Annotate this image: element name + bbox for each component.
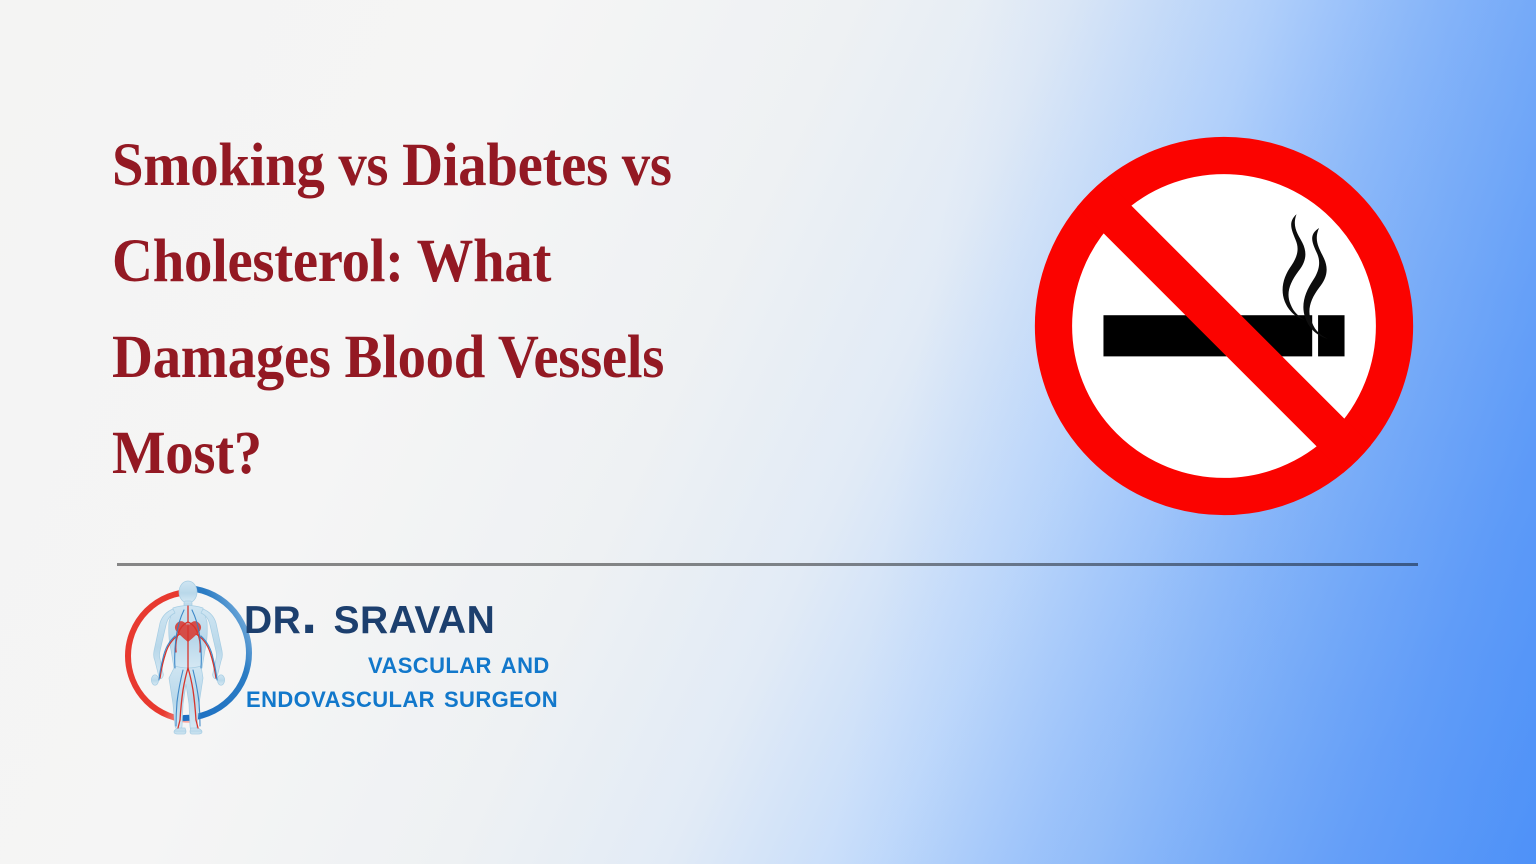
page-title: Smoking vs Diabetes vs Cholesterol: What… [112,118,744,502]
title-block: Smoking vs Diabetes vs Cholesterol: What… [112,118,792,502]
logo-wordmark: Dr. Sravan Vascular and Endovascular sur… [244,584,744,714]
logo-subtitle-line-2: Endovascular surgeon [244,680,744,714]
human-vascular-body-icon [118,576,258,736]
brand-logo[interactable]: Dr. Sravan Vascular and Endovascular sur… [118,576,738,736]
horizontal-divider [117,563,1418,566]
logo-subtitle-line-1: Vascular and [244,646,744,680]
logo-name: Dr. Sravan [244,584,744,644]
slide-canvas: Smoking vs Diabetes vs Cholesterol: What… [0,0,1536,864]
no-smoking-icon [1026,130,1422,522]
